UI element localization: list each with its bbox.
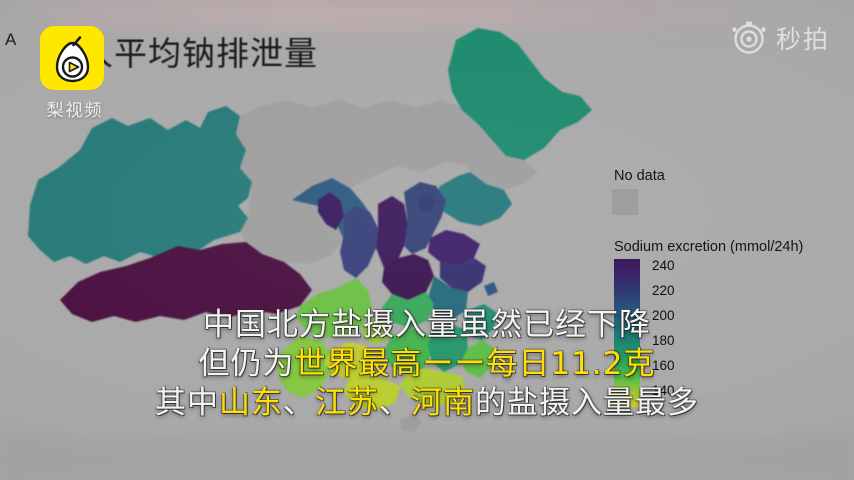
subtitle-highlight-henan: 河南 (411, 385, 475, 421)
panel-letter: A (5, 30, 16, 50)
miaopai-watermark: 秒拍 (731, 20, 830, 56)
pear-video-logo: 梨视频 (40, 26, 122, 121)
logo-badge (40, 26, 104, 90)
subtitle-block: 中国北方盐摄入量虽然已经下降 但仍为世界最高ーー每日11.2克 其中山东、江苏、… (0, 306, 854, 423)
subtitle-highlight: 世界最高ーー每日11.2克 (294, 346, 655, 382)
legend-no-data-swatch (612, 189, 638, 215)
watermark-text: 秒拍 (776, 20, 830, 56)
legend-no-data-label: No data (614, 168, 842, 184)
subtitle-line-1: 中国北方盐摄入量虽然已经下降 (0, 306, 854, 345)
video-frame: A 成人平均钠排泄量 梨视频 秒拍 No data Sodium e (0, 0, 854, 480)
subtitle-text: 但仍为 (198, 346, 294, 382)
subtitle-line-2: 但仍为世界最高ーー每日11.2克 (0, 345, 854, 384)
subtitle-text: 中国北方盐摄入量虽然已经下降 (203, 307, 651, 343)
subtitle-text: 的盐摄入量最多 (475, 385, 699, 421)
legend-tick: 220 (652, 278, 675, 303)
legend-scale-title: Sodium excretion (mmol/24h) (614, 239, 842, 255)
subtitle-line-3: 其中山东、江苏、河南的盐摄入量最多 (0, 384, 854, 423)
subtitle-separator: 、 (379, 385, 411, 421)
bottom-blur-band (0, 436, 854, 480)
stopwatch-lens-icon (731, 20, 767, 56)
subtitle-highlight-jiangsu: 江苏 (315, 385, 379, 421)
subtitle-highlight-shandong: 山东 (219, 385, 283, 421)
subtitle-text: 其中 (155, 385, 219, 421)
subtitle-separator: 、 (283, 385, 315, 421)
legend-tick: 240 (652, 253, 675, 278)
logo-caption: 梨视频 (30, 96, 120, 121)
pear-icon (49, 36, 95, 84)
